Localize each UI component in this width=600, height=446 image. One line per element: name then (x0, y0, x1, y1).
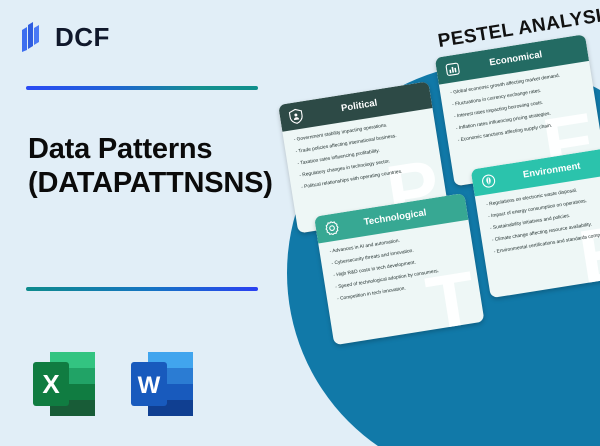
pestel-card-environment[interactable]: Environment E Regulations on electronic … (471, 146, 600, 298)
divider-top (26, 86, 258, 90)
leaf-icon (479, 171, 497, 189)
brand-logo[interactable]: DCF (22, 22, 110, 52)
divider-bottom (26, 287, 258, 291)
svg-text:X: X (42, 369, 60, 399)
gear-icon (323, 218, 341, 236)
card-bullet-list: Advances in AI and automation. Cybersecu… (330, 230, 469, 302)
svg-text:W: W (138, 372, 161, 399)
bar-chart-icon (443, 60, 461, 78)
card-bullet-list: Global economic growth affecting market … (450, 71, 589, 143)
slide-canvas: DCF Data Patterns (DATAPATTNSNS) X W PES… (0, 0, 600, 446)
file-format-icons: X W (33, 348, 193, 420)
card-bullet-list: Regulations on electronic waste disposal… (486, 183, 600, 255)
shield-person-icon (287, 107, 305, 125)
pestel-card-technological[interactable]: Technological T Advances in AI and autom… (314, 193, 484, 345)
pestel-grid: PESTEL ANALYSIS Political P Gove (285, 0, 600, 333)
excel-file-icon[interactable]: X (33, 348, 95, 420)
word-file-icon[interactable]: W (131, 348, 193, 420)
brand-name: DCF (55, 24, 110, 50)
pestel-artwork: PESTEL ANALYSIS Political P Gove (268, 0, 600, 446)
dcf-bars-logo-icon (22, 22, 46, 52)
card-bullet-list: Government stability impacting operation… (294, 118, 433, 190)
page-title: Data Patterns (DATAPATTNSNS) (28, 132, 290, 200)
